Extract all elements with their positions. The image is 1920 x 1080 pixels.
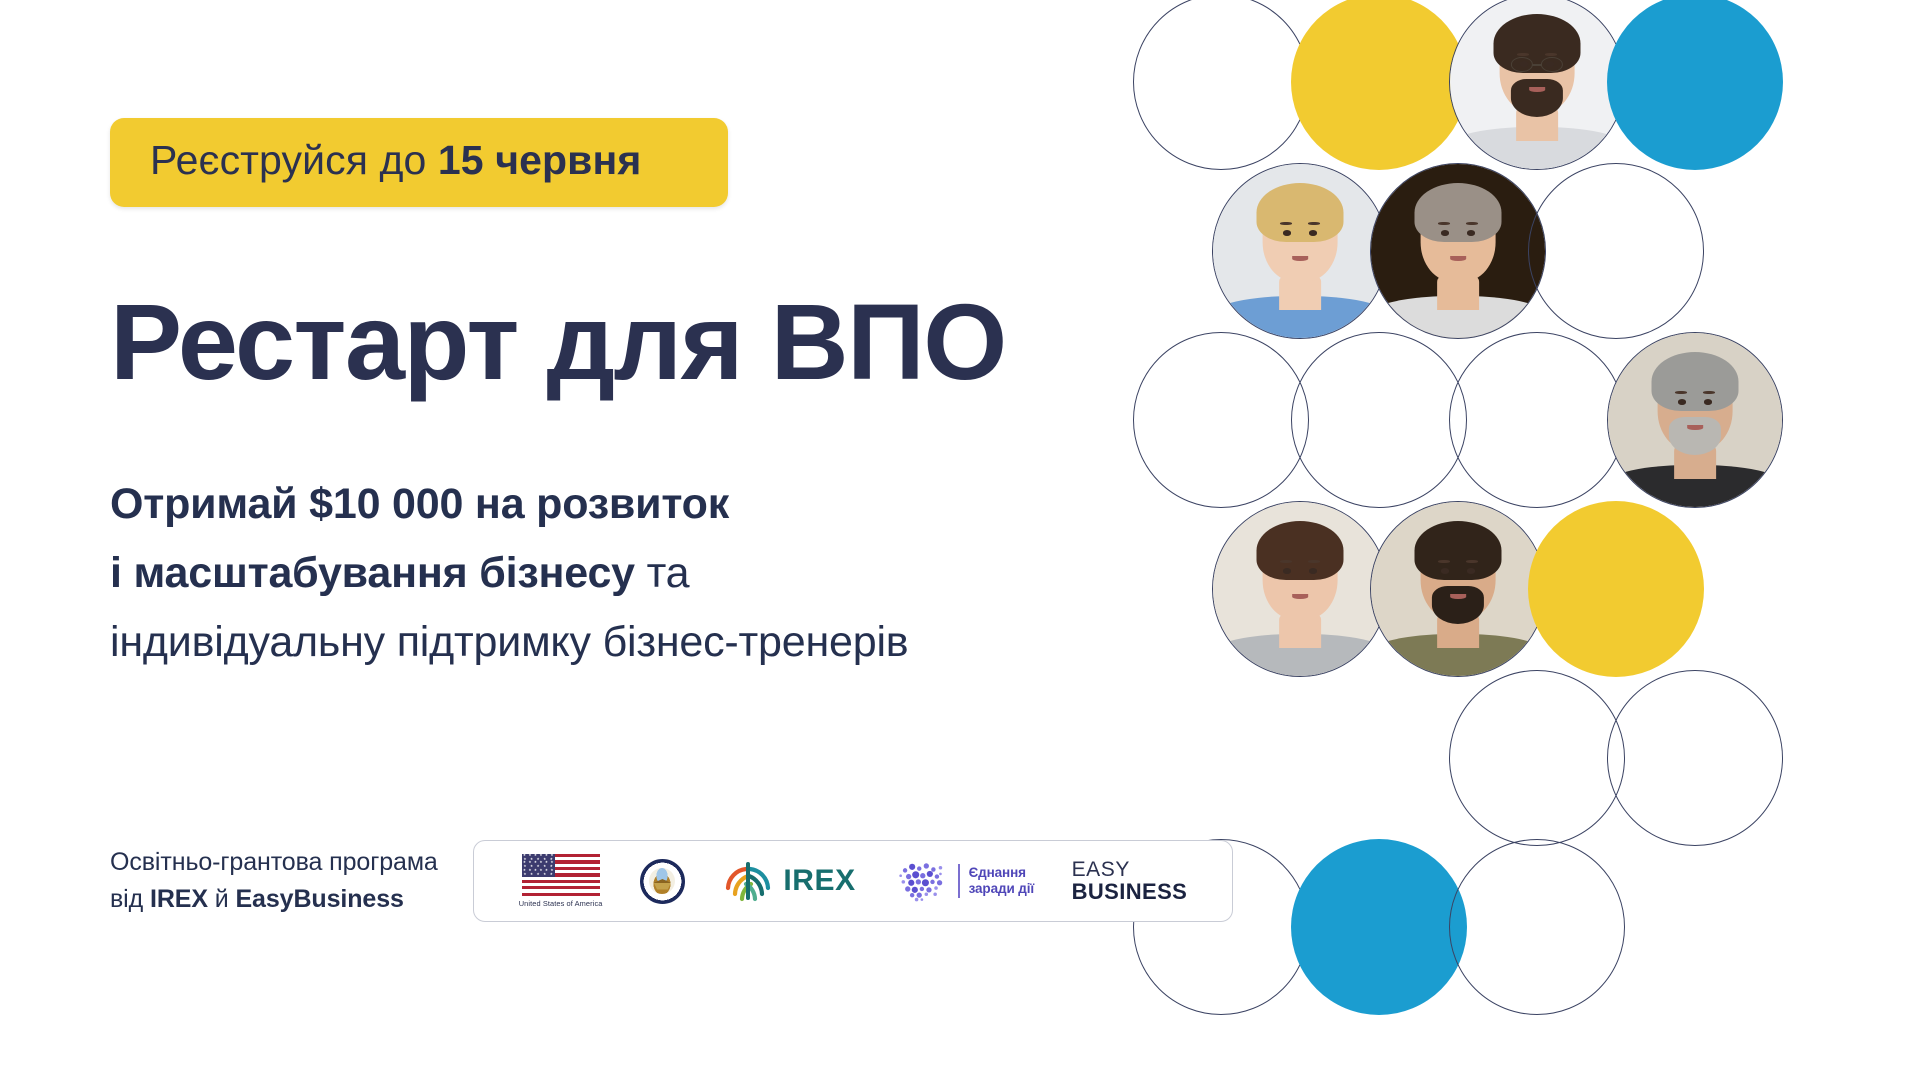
avatar-blonde-woman [1212, 163, 1388, 339]
deadline-date: 15 червня [438, 137, 641, 183]
registration-deadline-badge: Реєструйся до 15 червня [110, 118, 728, 207]
decorative-circle-outline-r2c1 [1291, 332, 1467, 508]
ednannia-line-1: Єднання [969, 865, 1035, 881]
logo-us-department-of-state [640, 859, 685, 904]
decorative-circle-yellow-r0c1 [1291, 0, 1467, 170]
irex-mark-icon [722, 858, 774, 904]
portrait-man-with-glasses [1450, 0, 1624, 169]
ednannia-line-2: заради дії [969, 881, 1035, 897]
irex-wordmark: IREX [783, 864, 855, 898]
portrait-short-hair-woman [1213, 502, 1387, 676]
easybusiness-line-2: BUSINESS [1072, 881, 1188, 903]
footer-row: Освітньо-грантова програма від IREX й Ea… [110, 840, 1233, 922]
decorative-circle-outline-r2c0 [1133, 332, 1309, 508]
subtitle-line-3-regular: індивідуальну підтримку бізнес-тренерів [110, 618, 908, 666]
program-attribution-line-1: Освітньо-грантова програма [110, 844, 465, 881]
decorative-circle-blue-r0c3 [1607, 0, 1783, 170]
subtitle-line-2-bold: і масштабування бізнесу [110, 549, 635, 597]
decorative-circle-outline-r1c2 [1528, 163, 1704, 339]
ukraine-map-dots-icon [893, 858, 949, 904]
logo-irex: IREX [722, 858, 855, 904]
logo-us-flag: ★★★★★★★★★★★★★★★★★★★★★★★★★★★★★★★★★ United… [519, 854, 603, 908]
avatar-man-with-glasses [1449, 0, 1625, 170]
avatar-short-hair-woman [1212, 501, 1388, 677]
decorative-circle-outline-r4c0 [1449, 670, 1625, 846]
decorative-circle-yellow-r3c2 [1528, 501, 1704, 677]
deadline-text: Реєструйся до 15 червня [150, 140, 688, 181]
partner-logo-bar: ★★★★★★★★★★★★★★★★★★★★★★★★★★★★★★★★★ United… [473, 840, 1233, 922]
program-attribution-line-2: від IREX й EasyBusiness [110, 881, 465, 918]
avatar-grey-bearded-man [1607, 332, 1783, 508]
portrait-soldier-man [1371, 502, 1545, 676]
subtitle-block: Отримай $10 000 на розвиток і масштабува… [110, 470, 908, 677]
easybusiness-line-1: EASY [1072, 859, 1188, 881]
avatar-soldier-man [1370, 501, 1546, 677]
subtitle-line-1-bold: Отримай $10 000 на розвиток [110, 480, 729, 528]
subtitle-line-1: Отримай $10 000 на розвиток [110, 470, 908, 539]
us-flag-icon: ★★★★★★★★★★★★★★★★★★★★★★★★★★★★★★★★★ [522, 854, 600, 896]
decorative-circle-outline-r2c2 [1449, 332, 1625, 508]
decorative-circle-outline-r5c2 [1449, 839, 1625, 1015]
org-easybusiness: EasyBusiness [235, 885, 403, 913]
decorative-circle-outline-r0c0 [1133, 0, 1309, 170]
portrait-blonde-woman [1213, 164, 1387, 338]
logo-ednannia: Єднання заради дії [893, 858, 1034, 904]
logo-divider [958, 864, 959, 898]
decorative-circle-outline-r4c1 [1607, 670, 1783, 846]
ednannia-wordmark: Єднання заради дії [969, 865, 1035, 897]
subtitle-line-2: і масштабування бізнесу та [110, 539, 908, 608]
us-flag-caption: United States of America [519, 899, 603, 908]
us-department-of-state-seal-icon [640, 859, 685, 904]
avatar-older-woman [1370, 163, 1546, 339]
subtitle-line-3: індивідуальну підтримку бізнес-тренерів [110, 608, 908, 677]
attribution-conjunction: й [208, 885, 236, 913]
deadline-prefix: Реєструйся до [150, 137, 438, 183]
logo-easybusiness: EASY BUSINESS [1072, 859, 1188, 903]
program-attribution: Освітньо-грантова програма від IREX й Ea… [110, 844, 465, 918]
page-title: Рестарт для ВПО [110, 288, 1006, 396]
attribution-prefix: від [110, 885, 150, 913]
content-column: Реєструйся до 15 червня Рестарт для ВПО … [110, 0, 1110, 1080]
org-irex: IREX [150, 885, 208, 913]
portrait-grey-bearded-man [1608, 333, 1782, 507]
portrait-older-woman [1371, 164, 1545, 338]
decorative-circle-blue-r5c1 [1291, 839, 1467, 1015]
subtitle-line-2-regular: та [635, 549, 689, 597]
